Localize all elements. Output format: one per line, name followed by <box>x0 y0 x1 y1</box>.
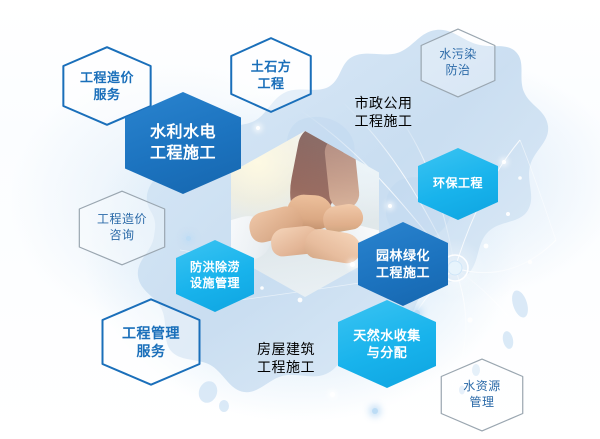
sparkle-dot <box>256 126 260 130</box>
hexagon-label: 水污染 防治 <box>435 47 481 79</box>
hexagon-label: 市政公用 工程施工 <box>351 94 417 131</box>
hexagon-shizheng-gongyong[interactable]: 市政公用 工程施工 <box>335 66 432 158</box>
sparkle-dot <box>502 160 506 164</box>
hexagon-label: 防洪除涝 设施管理 <box>186 260 244 292</box>
hexagon-label: 工程造价 咨询 <box>93 212 151 244</box>
hexagon-gongcheng-guanli[interactable]: 工程管理 服务 <box>101 298 201 386</box>
hexagon-label: 工程造价 服务 <box>76 69 138 103</box>
hexagon-label: 土石方 工程 <box>247 58 296 92</box>
hexagon-label: 水利水电 工程施工 <box>146 122 220 164</box>
hexagon-tushifang-gongcheng[interactable]: 土石方 工程 <box>230 37 312 113</box>
infographic-canvas: 工程造价 服务土石方 工程市政公用 工程施工水污染 防治水利水电 工程施工环保工… <box>0 0 600 439</box>
hexagon-yuanlin-lvhua[interactable]: 园林绿化 工程施工 <box>358 222 448 306</box>
hexagon-shuili-shuidian[interactable]: 水利水电 工程施工 <box>125 92 241 194</box>
hexagon-label: 天然水收集 与分配 <box>349 327 425 361</box>
sparkle-dot <box>350 262 355 267</box>
sparkle-dot <box>388 204 392 208</box>
hexagon-tianranshui-shouji[interactable]: 天然水收集 与分配 <box>338 300 436 388</box>
hexagon-shuiziyuan-guanli[interactable]: 水资源 管理 <box>440 358 524 432</box>
hexagon-label: 环保工程 <box>429 176 487 192</box>
hexagon-fangwu-jianzhu[interactable]: 房屋建筑 工程施工 <box>238 314 334 402</box>
hexagon-label: 房屋建筑 工程施工 <box>253 340 319 377</box>
hexagon-shuiwuran-fangzhi[interactable]: 水污染 防治 <box>420 28 496 98</box>
hexagon-label: 水资源 管理 <box>459 379 505 411</box>
hexagon-gongcheng-zaojia-zixun[interactable]: 工程造价 咨询 <box>78 190 166 266</box>
hexagon-label: 园林绿化 工程施工 <box>372 247 434 281</box>
hexagon-label: 工程管理 服务 <box>118 324 184 361</box>
sparkle-dot <box>372 408 378 414</box>
hexagon-huanbao-gongcheng[interactable]: 环保工程 <box>418 148 498 220</box>
